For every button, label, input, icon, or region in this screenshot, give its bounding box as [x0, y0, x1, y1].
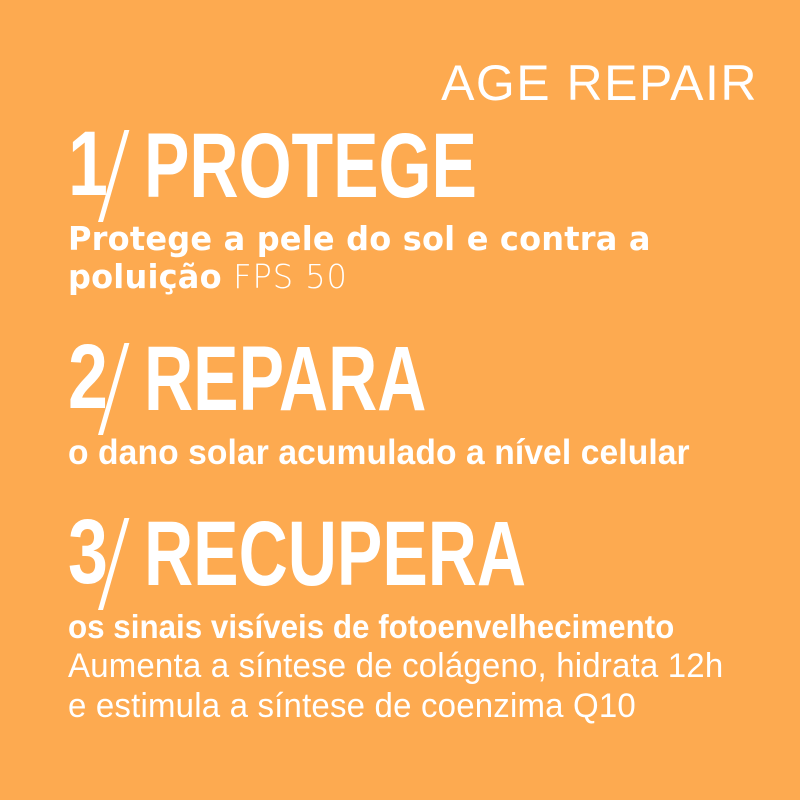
step-3-body: os sinais visíveis de fotoenvelhecimento…: [68, 608, 760, 726]
step-3-heading: 3 RECUPERA: [68, 520, 760, 604]
step-2-body-line-1: o dano solar acumulado a nível celular: [68, 433, 732, 474]
step-3-body-bold-line: os sinais visíveis de fotoenvelhecimento: [68, 608, 725, 646]
step-3-body-light-line-1: Aumenta a síntese de colágeno, hidrata 1…: [68, 646, 739, 686]
step-3-body-light-line-2: e estimula a síntese de coenzima Q10: [68, 686, 739, 726]
step-1-body-line-2: poluição FPS 50: [68, 258, 739, 296]
step-1-body-line-1: Protege a pele do sol e contra a: [68, 220, 739, 258]
step-1-number-badge: 1: [68, 132, 140, 216]
step-block-3: 3 RECUPERA os sinais visíveis de fotoenv…: [68, 520, 760, 726]
promo-poster: AGE REPAIR 1 PROTEGE Protege a pele do s…: [0, 0, 800, 800]
step-3-heading-word: RECUPERA: [144, 508, 526, 600]
step-block-1: 1 PROTEGE Protege a pele do sol e contra…: [68, 132, 760, 297]
step-1-body: Protege a pele do sol e contra a poluiçã…: [68, 220, 760, 297]
step-3-number: 3: [68, 506, 107, 598]
step-3-number-badge: 3: [68, 520, 140, 604]
step-1-number: 1: [68, 118, 107, 210]
step-1-heading: 1 PROTEGE: [68, 132, 760, 216]
step-2-heading-word: REPARA: [144, 333, 426, 425]
step-2-body: o dano solar acumulado a nível celular: [68, 433, 760, 474]
step-2-heading: 2 REPARA: [68, 345, 760, 429]
step-1-body-line-2-text: poluição: [68, 257, 222, 296]
brand-title: AGE REPAIR: [441, 58, 758, 108]
step-2-number-badge: 2: [68, 345, 140, 429]
step-block-2: 2 REPARA o dano solar acumulado a nível …: [68, 345, 760, 474]
step-2-number: 2: [68, 331, 107, 423]
step-1-heading-word: PROTEGE: [144, 120, 477, 212]
step-1-body-light-suffix: FPS 50: [233, 257, 348, 296]
